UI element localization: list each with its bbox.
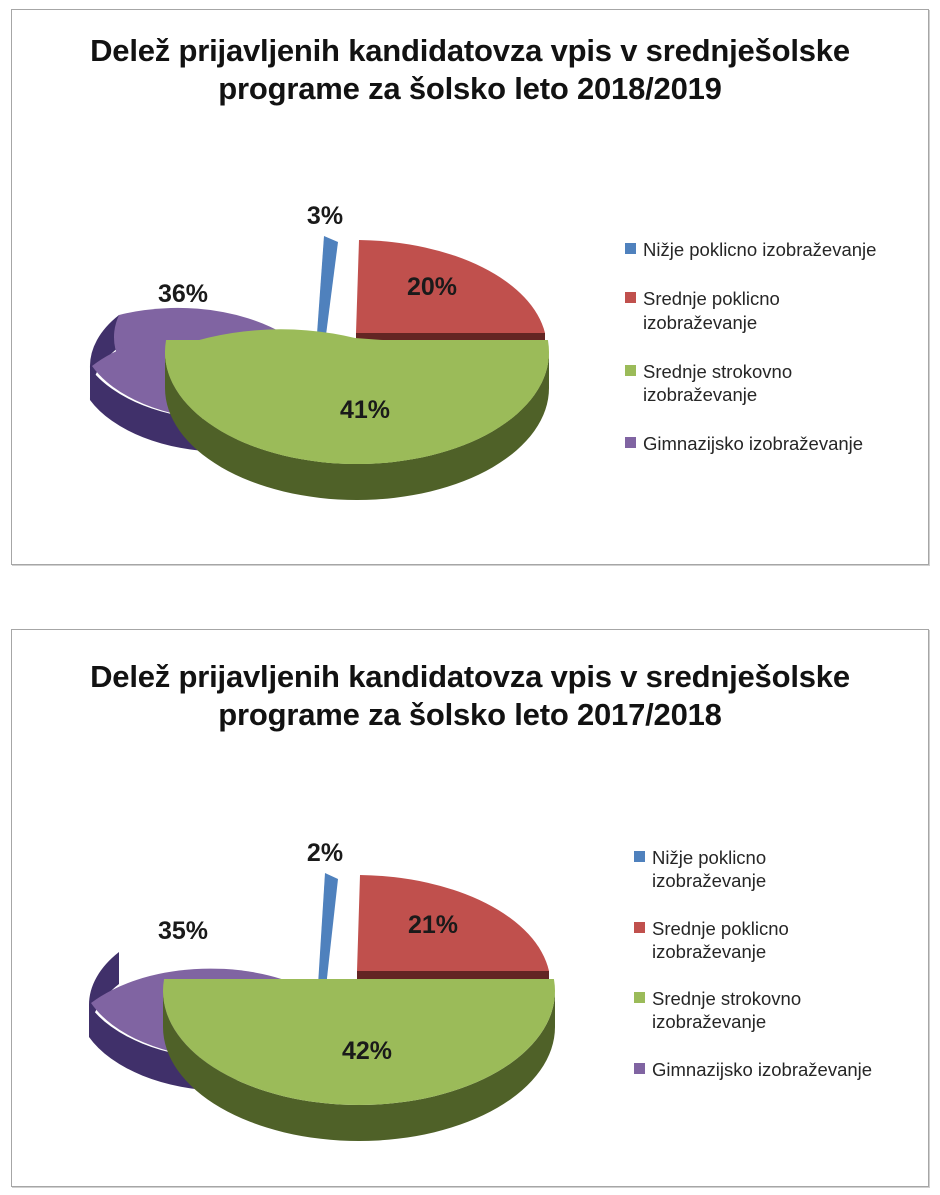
legend-label: Gimnazijsko izobraževanje	[652, 1058, 872, 1081]
legend-item-gimnazijsko[interactable]: Gimnazijsko izobraževanje	[625, 432, 925, 455]
legend-swatch-purple-icon	[625, 437, 636, 448]
page-title: Delež prijavljenih kandidatovza vpis v s…	[12, 32, 928, 108]
legend-swatch-blue-icon	[625, 243, 636, 254]
pie-chart-2017-2018: 2% 21% 42% 35%	[67, 825, 607, 1165]
data-label-green: 41%	[340, 396, 390, 424]
legend-label: Nižje poklicno izobraževanje	[652, 846, 766, 893]
legend-label: Srednje poklicno izobraževanje	[652, 917, 789, 964]
legend-item-srednje-poklicno[interactable]: Srednje poklicno izobraževanje	[634, 917, 934, 964]
legend-item-nizje-poklicno[interactable]: Nižje poklicno izobraževanje	[625, 238, 925, 261]
legend-item-gimnazijsko[interactable]: Gimnazijsko izobraževanje	[634, 1058, 934, 1081]
page-title: Delež prijavljenih kandidatovza vpis v s…	[12, 658, 928, 734]
data-label-red: 20%	[407, 273, 457, 301]
legend-2017-2018: Nižje poklicno izobraževanje Srednje pok…	[634, 846, 934, 1105]
legend-item-srednje-strokovno[interactable]: Srednje strokovno izobraževanje	[625, 360, 925, 407]
data-label-green: 42%	[342, 1037, 392, 1065]
legend-label: Srednje poklicno izobraževanje	[643, 287, 780, 334]
legend-label: Gimnazijsko izobraževanje	[643, 432, 863, 455]
legend-label: Nižje poklicno izobraževanje	[643, 238, 876, 261]
pie-svg: 2% 21% 42% 35%	[67, 825, 607, 1165]
legend-swatch-purple-icon	[634, 1063, 645, 1074]
data-label-red: 21%	[408, 911, 458, 939]
legend-swatch-blue-icon	[634, 851, 645, 862]
legend-item-nizje-poklicno[interactable]: Nižje poklicno izobraževanje	[634, 846, 934, 893]
pie-svg: 3% 20% 41% 36%	[72, 190, 592, 520]
legend-2018-2019: Nižje poklicno izobraževanje Srednje pok…	[625, 238, 925, 482]
pie-chart-2018-2019: 3% 20% 41% 36%	[72, 190, 592, 520]
chart-panel-2018-2019: Delež prijavljenih kandidatovza vpis v s…	[11, 9, 929, 565]
chart-panel-2017-2018: Delež prijavljenih kandidatovza vpis v s…	[11, 629, 929, 1187]
page-root: Delež prijavljenih kandidatovza vpis v s…	[0, 0, 940, 1195]
legend-swatch-red-icon	[625, 292, 636, 303]
legend-label: Srednje strokovno izobraževanje	[643, 360, 792, 407]
legend-item-srednje-strokovno[interactable]: Srednje strokovno izobraževanje	[634, 987, 934, 1034]
data-label-blue: 3%	[307, 202, 343, 230]
data-label-purple: 36%	[158, 280, 208, 308]
legend-swatch-green-icon	[625, 365, 636, 376]
legend-label: Srednje strokovno izobraževanje	[652, 987, 801, 1034]
legend-item-srednje-poklicno[interactable]: Srednje poklicno izobraževanje	[625, 287, 925, 334]
legend-swatch-green-icon	[634, 992, 645, 1003]
data-label-blue: 2%	[307, 839, 343, 867]
legend-swatch-red-icon	[634, 922, 645, 933]
data-label-purple: 35%	[158, 917, 208, 945]
